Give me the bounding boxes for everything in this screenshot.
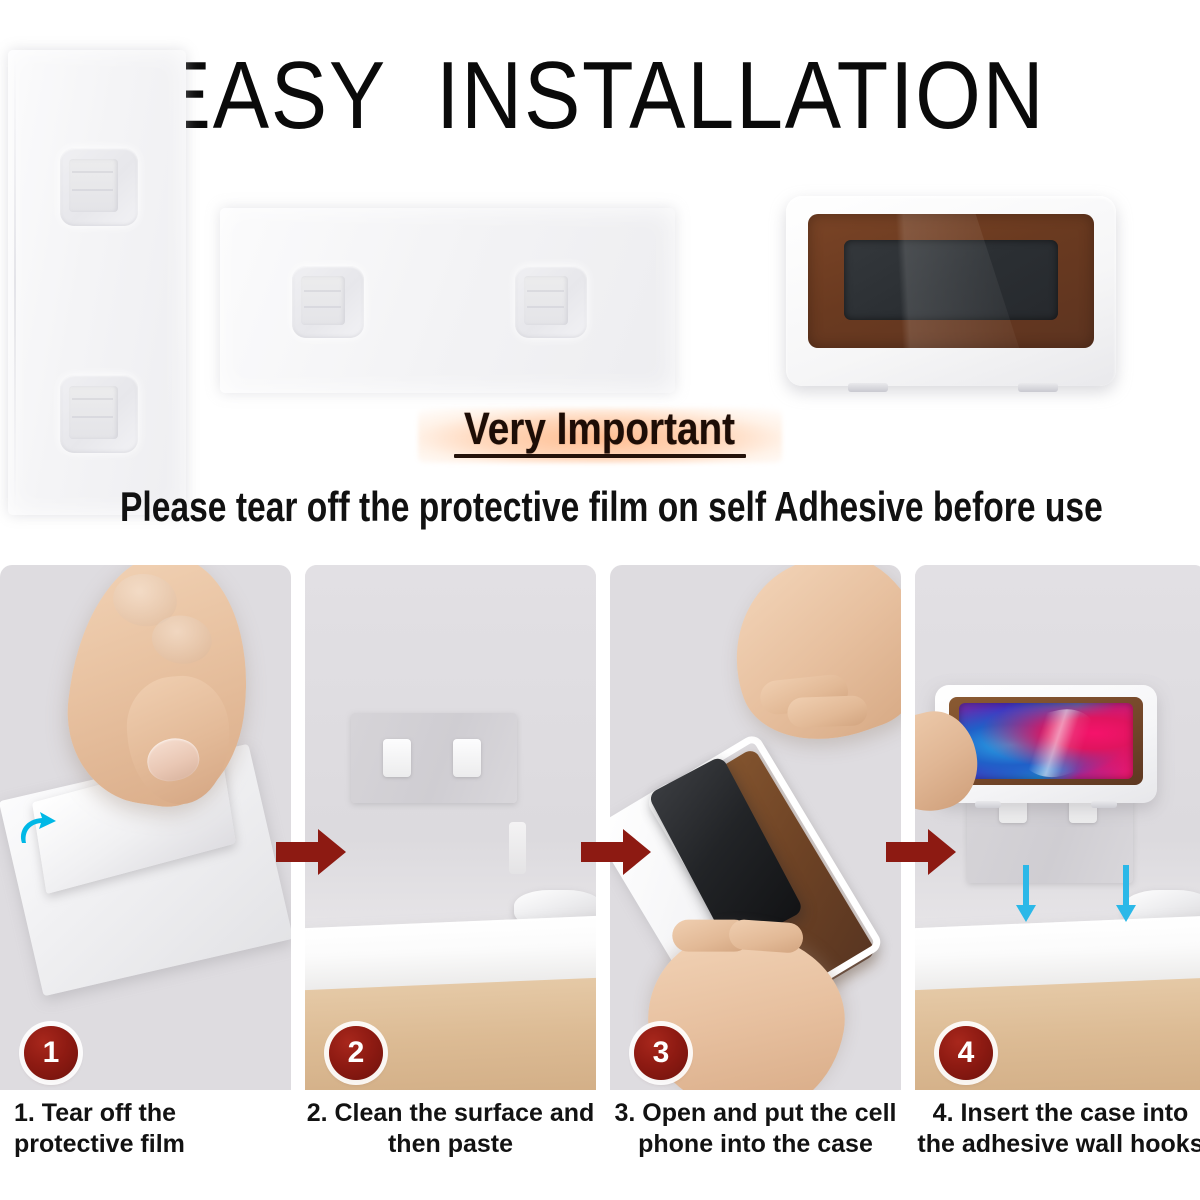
insert-direction-arrow-icon [1115,865,1137,923]
finger [728,919,804,954]
step-panels: 1 2 [0,565,1200,1090]
case-mount-tab [975,801,1001,808]
peel-direction-arrow-icon [14,809,58,851]
flow-arrow-icon [886,829,956,875]
step-panel-2: 2 [305,565,596,1090]
adhesive-pad [60,148,138,226]
glass-reflection [808,214,1020,348]
adhesive-pad-line [527,290,564,292]
adhesive-hook-pad [515,266,587,338]
product-hero-image [786,196,1116,386]
notice-message: Please tear off the protective film on s… [120,484,1080,530]
installation-infographic: EASY INSTALLATION [0,0,1200,1200]
important-badge-label: Very Important [465,406,736,453]
adhesive-pad-line [527,306,564,308]
step-panel-4: 4 [915,565,1200,1090]
adhesive-pad-line [72,398,113,400]
step-captions: 1. Tear off the protective film 2. Clean… [0,1098,1200,1198]
step-number-badge: 2 [329,1026,383,1080]
important-badge: Very Important [418,404,781,465]
important-notice-banner: Very Important [0,404,1200,465]
step-caption-2: 2. Clean the surface and then paste [305,1098,596,1159]
product-mount-tab [1018,383,1058,392]
finger [787,695,868,728]
step-number-badge: 1 [24,1026,78,1080]
badge-underline [454,454,746,458]
adhesive-pad-inner [301,276,346,325]
mounted-adhesive-strip [351,713,517,803]
flow-arrow-icon [276,829,346,875]
step-number-badge: 4 [939,1026,993,1080]
phone-screen [959,703,1133,779]
wall-hook [453,739,481,777]
product-mount-tab [848,383,888,392]
step-panel-1: 1 [0,565,291,1090]
product-interior [808,214,1094,348]
flow-arrow-icon [581,829,651,875]
adhesive-hook-pad [292,266,364,338]
bottle [509,822,526,874]
insert-direction-arrow-icon [1015,865,1037,923]
thumbnail [143,734,203,786]
case-mount-tab [1091,801,1117,808]
adhesive-pad-line [304,290,341,292]
adhesive-pad-line [304,306,341,308]
hand-upper [707,565,901,766]
step-panel-3: 3 [610,565,901,1090]
adhesive-pad-inner [524,276,569,325]
step-caption-1: 1. Tear off the protective film [0,1098,291,1159]
adhesive-pad-inner [69,159,117,212]
page-title: EASY INSTALLATION [72,48,1128,144]
wall-hook [383,739,411,777]
screen-highlight [1012,703,1104,784]
adhesive-sheet-horizontal [220,208,675,393]
step-caption-4: 4. Insert the case into the adhesive wal… [915,1098,1200,1159]
adhesive-pad-line [72,171,113,173]
adhesive-pad-line [72,189,113,191]
step-number-badge: 3 [634,1026,688,1080]
case-interior [949,697,1143,785]
step-caption-3: 3. Open and put the cell phone into the … [610,1098,901,1159]
